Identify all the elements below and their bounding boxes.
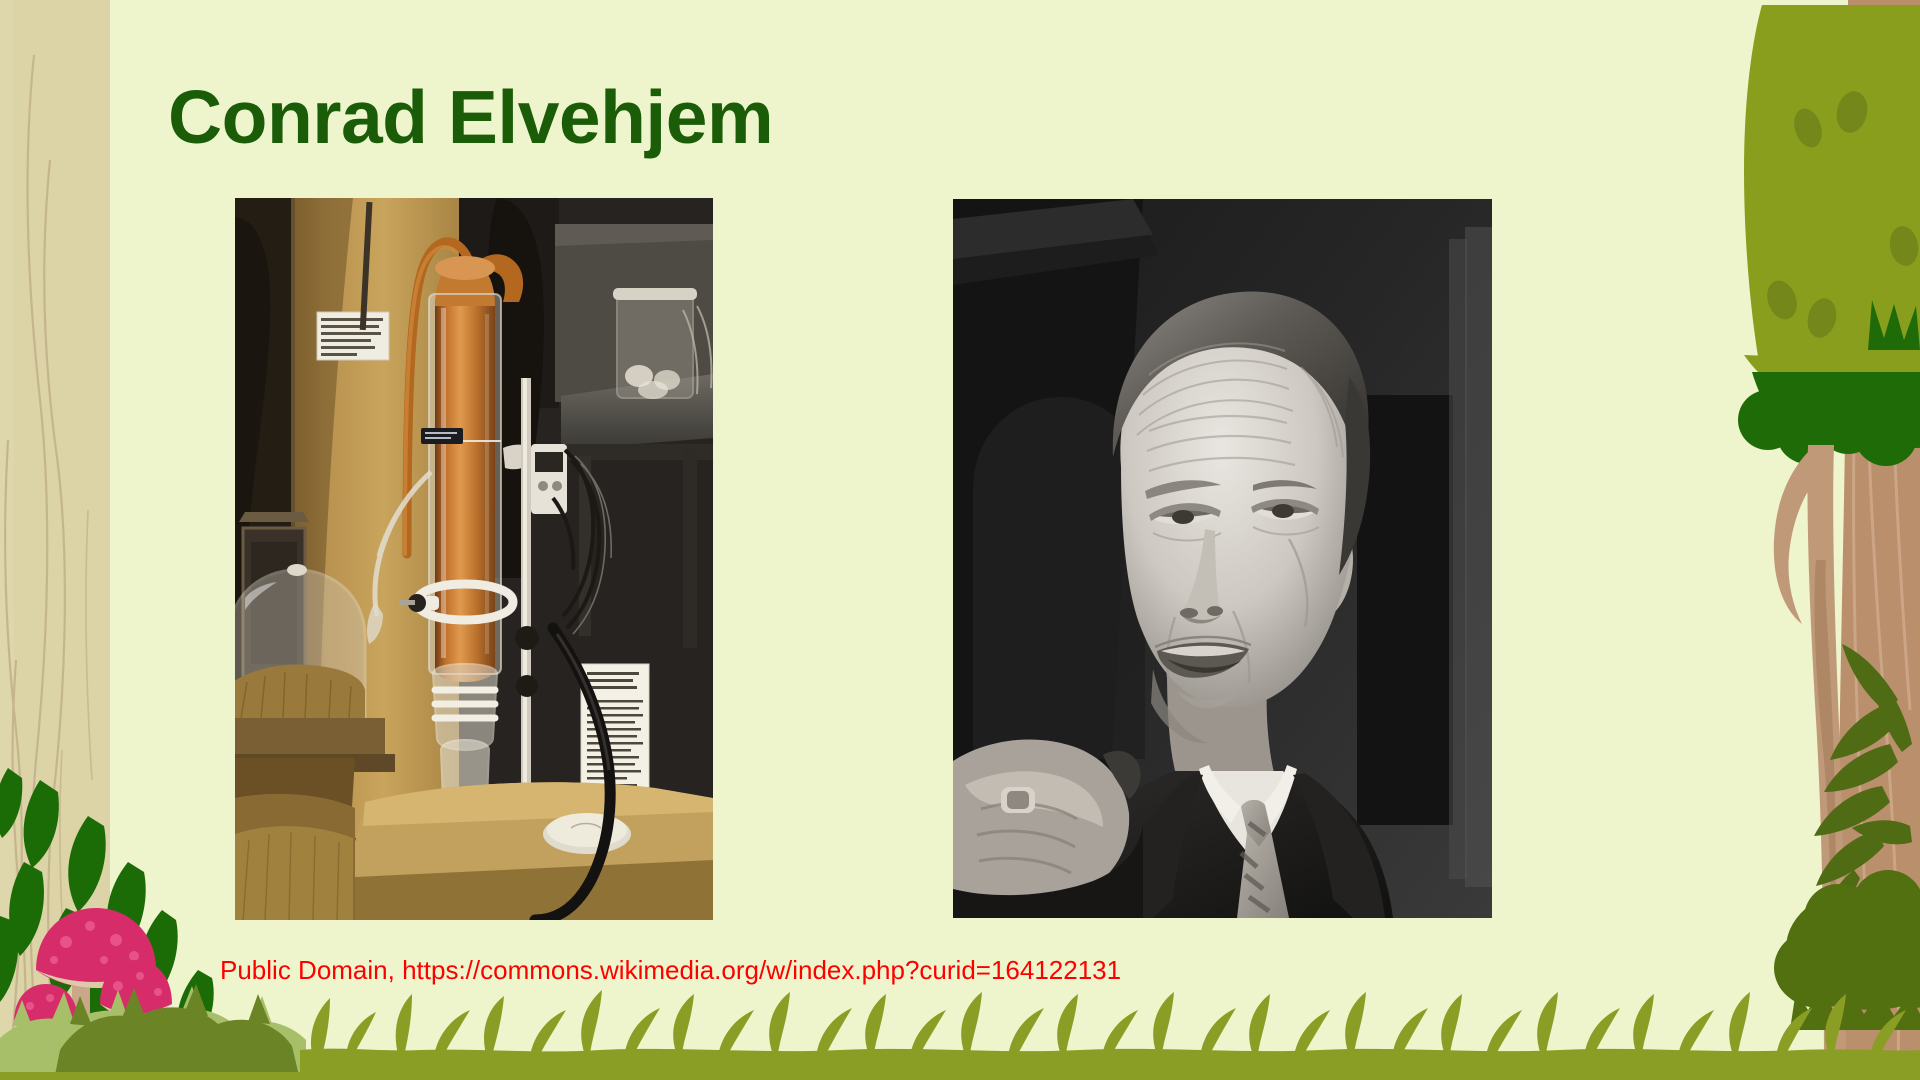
image-credit-caption: Public Domain, https://commons.wikimedia… [220, 955, 1121, 986]
page-title: Conrad Elvehjem [168, 78, 773, 157]
slide-canvas: Conrad Elvehjem [0, 0, 1920, 1080]
laboratory-apparatus-photo [235, 198, 713, 920]
conrad-elvehjem-portrait [953, 199, 1492, 918]
